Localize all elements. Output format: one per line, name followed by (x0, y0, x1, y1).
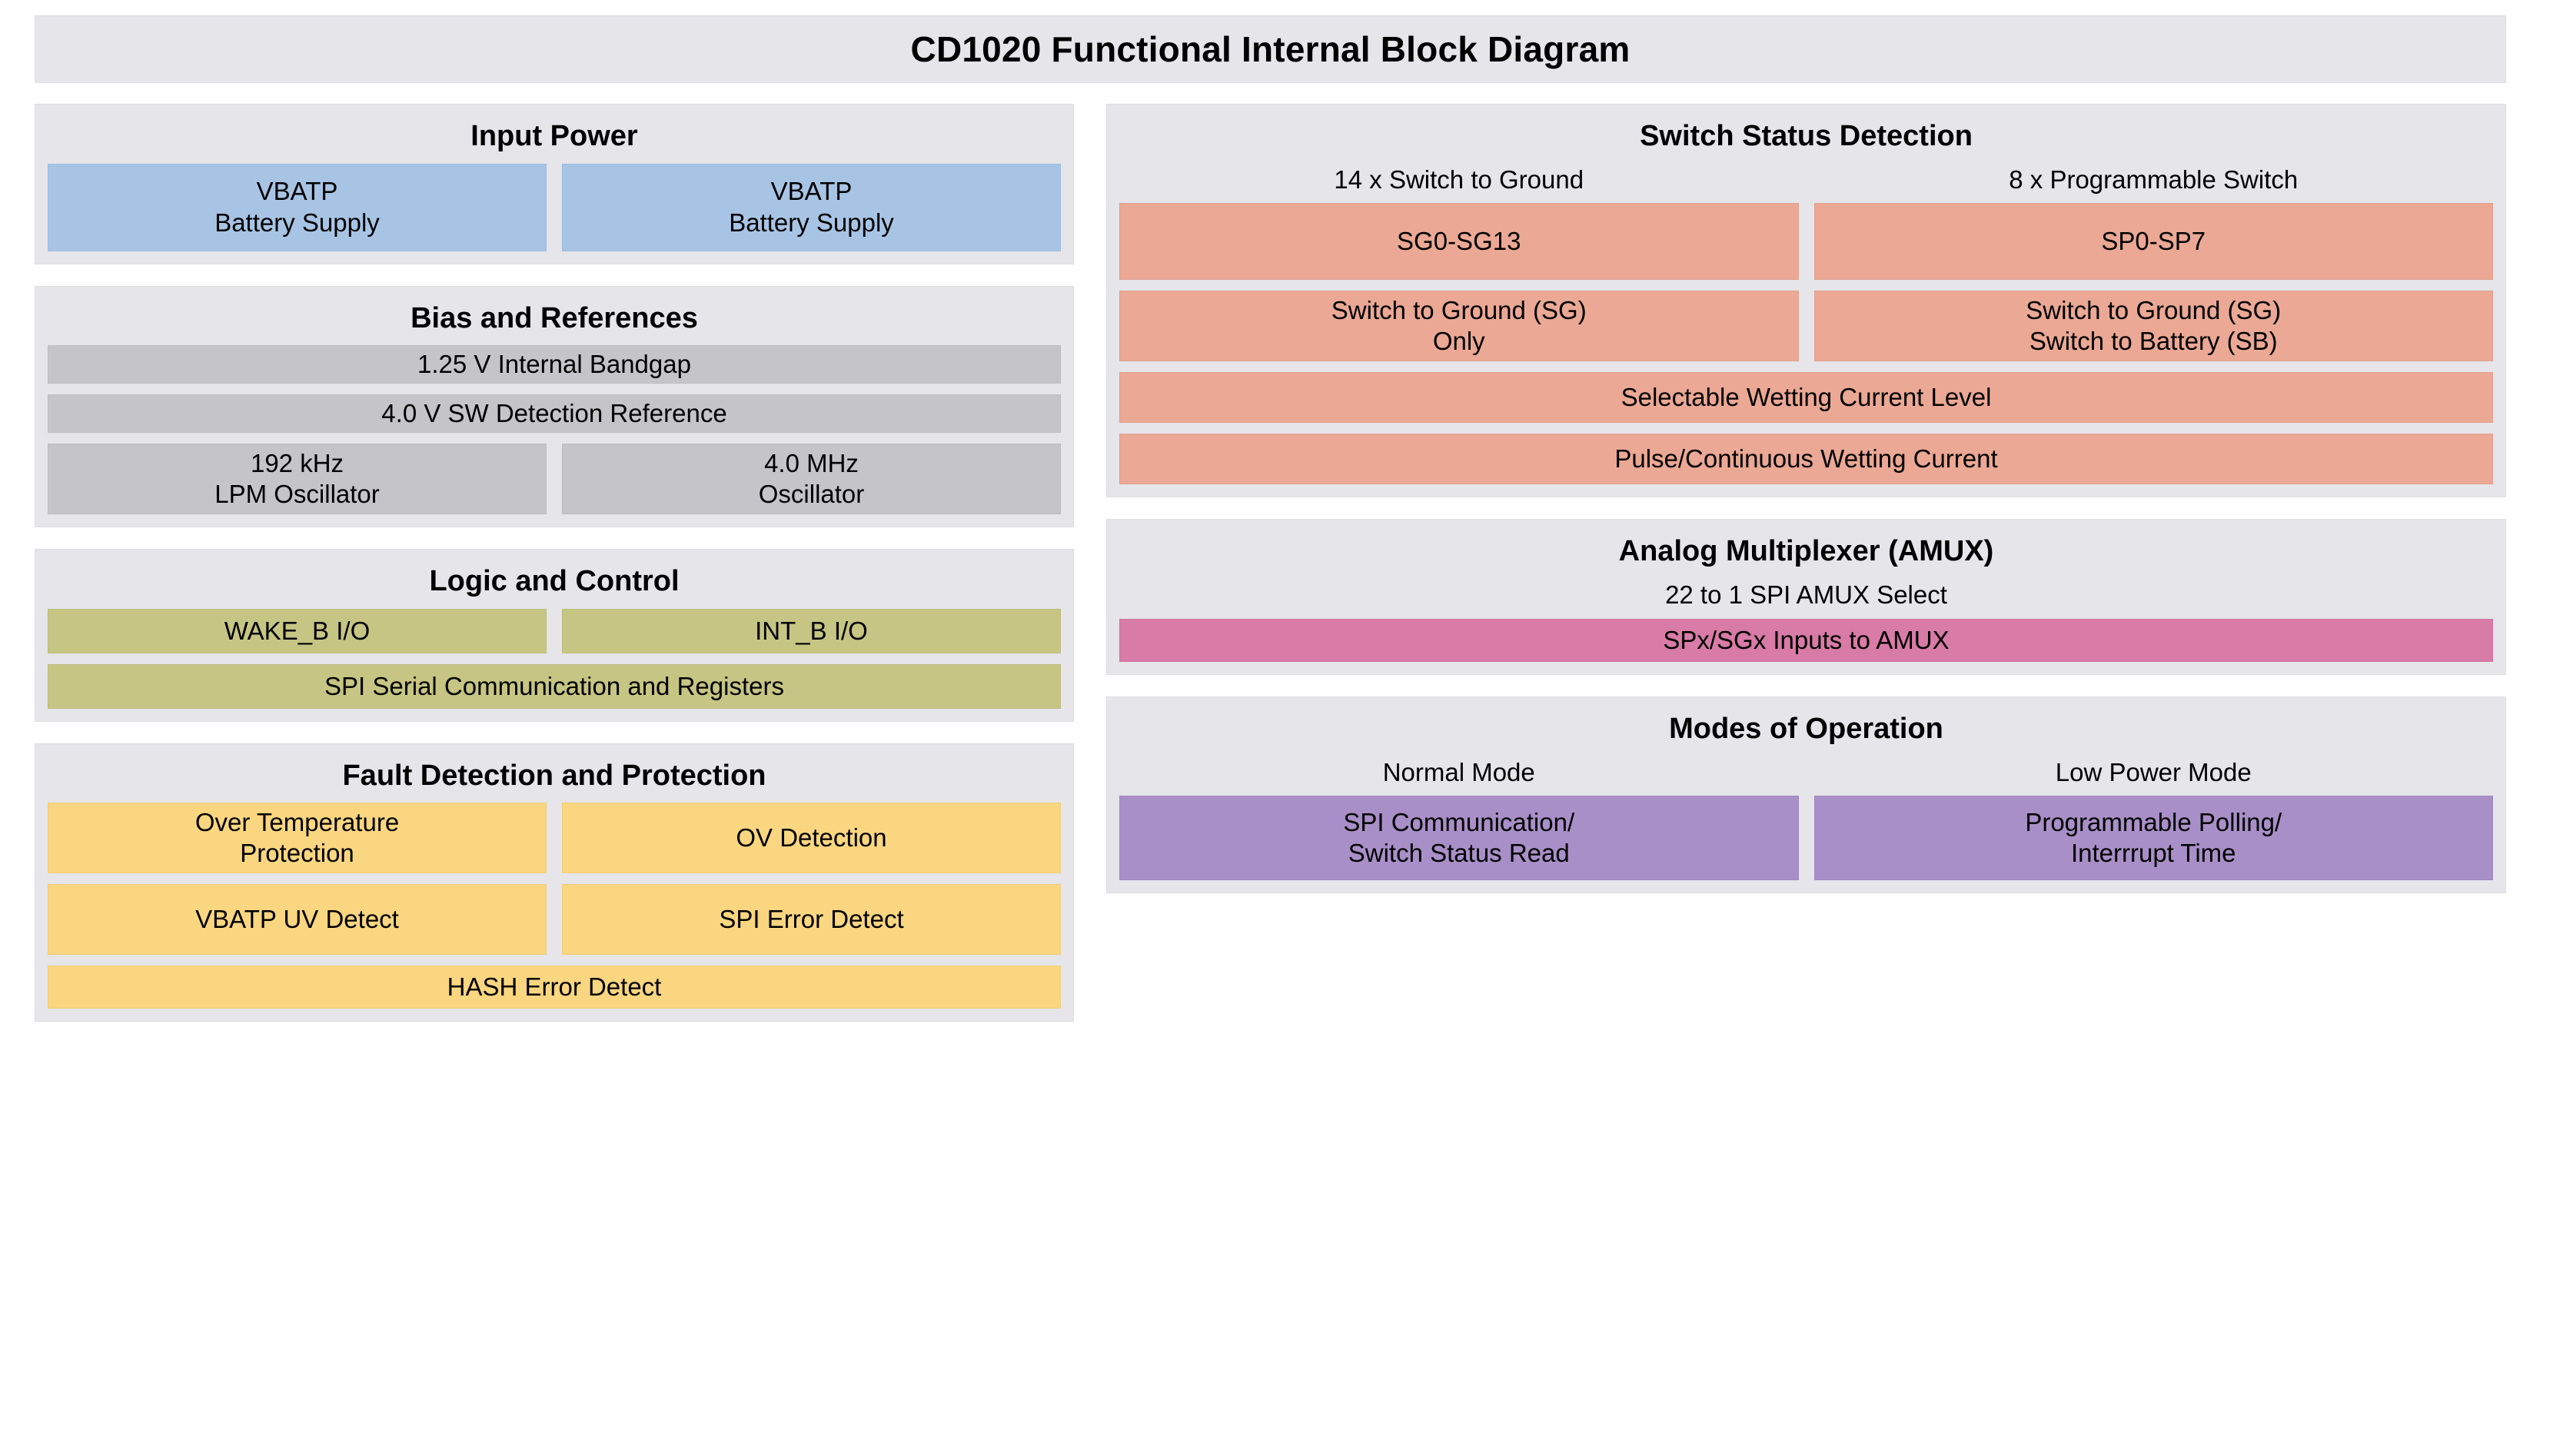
switch-range-row: SG0-SG13 SP0-SP7 (1119, 203, 2493, 280)
left-column: Input Power VBATP Battery Supply VBATP B… (35, 104, 1074, 1022)
block-switch-to-ground-only: Switch to Ground (SG) Only (1119, 291, 1799, 361)
block-wake-b-io: WAKE_B I/O (48, 609, 547, 653)
block-ov-detection: OV Detection (562, 803, 1061, 873)
wetting-level-row: Selectable Wetting Current Level (1119, 372, 2493, 423)
fault-row-3: HASH Error Detect (48, 966, 1061, 1009)
logic-io-row: WAKE_B I/O INT_B I/O (48, 609, 1061, 653)
section-input-power: Input Power VBATP Battery Supply VBATP B… (35, 104, 1074, 264)
sublabel-low-power-mode: Low Power Mode (1814, 756, 2494, 796)
section-modes-of-operation: Modes of Operation Normal Mode Low Power… (1106, 696, 2506, 893)
right-column: Switch Status Detection 14 x Switch to G… (1106, 104, 2506, 893)
block-spi-error-detect: SPI Error Detect (562, 884, 1061, 955)
wetting-mode-row: Pulse/Continuous Wetting Current (1119, 434, 2493, 484)
block-normal-mode-detail: SPI Communication/ Switch Status Read (1119, 796, 1799, 880)
fault-row-1: Over Temperature Protection OV Detection (48, 803, 1061, 873)
section-title-switch-status-detection: Switch Status Detection (1119, 115, 2493, 164)
block-spx-sgx-inputs-to-amux: SPx/SGx Inputs to AMUX (1119, 619, 2493, 662)
diagram-title: CD1020 Functional Internal Block Diagram (35, 15, 2506, 83)
block-diagram-canvas: CD1020 Functional Internal Block Diagram… (0, 0, 2563, 1456)
section-title-modes-of-operation: Modes of Operation (1119, 708, 2493, 756)
bias-bandgap-row: 1.25 V Internal Bandgap (48, 345, 1061, 384)
section-logic-and-control: Logic and Control WAKE_B I/O INT_B I/O S… (35, 549, 1074, 722)
block-vbatp-supply-2: VBATP Battery Supply (562, 164, 1061, 251)
bias-sw-reference-row: 4.0 V SW Detection Reference (48, 394, 1061, 433)
logic-spi-row: SPI Serial Communication and Registers (48, 664, 1061, 709)
block-vbatp-supply-1: VBATP Battery Supply (48, 164, 547, 251)
input-power-row: VBATP Battery Supply VBATP Battery Suppl… (48, 164, 1061, 251)
block-main-oscillator: 4.0 MHz Oscillator (562, 444, 1061, 514)
amux-block-row: SPx/SGx Inputs to AMUX (1119, 619, 2493, 662)
block-hash-error-detect: HASH Error Detect (48, 966, 1061, 1009)
section-title-logic-and-control: Logic and Control (48, 560, 1061, 609)
diagram-columns: Input Power VBATP Battery Supply VBATP B… (35, 104, 2506, 1022)
block-switch-to-ground-and-battery: Switch to Ground (SG) Switch to Battery … (1814, 291, 2494, 361)
section-title-bias-and-references: Bias and References (48, 298, 1061, 346)
switch-status-sublabel-row: 14 x Switch to Ground 8 x Programmable S… (1119, 164, 2493, 204)
block-int-b-io: INT_B I/O (562, 609, 1061, 653)
block-sg-range: SG0-SG13 (1119, 203, 1799, 280)
section-title-input-power: Input Power (48, 115, 1061, 164)
sublabel-normal-mode: Normal Mode (1119, 756, 1799, 796)
modes-sublabel-row: Normal Mode Low Power Mode (1119, 756, 2493, 796)
modes-block-row: SPI Communication/ Switch Status Read Pr… (1119, 796, 2493, 880)
normal-mode-group: Normal Mode (1119, 756, 1799, 796)
sublabel-programmable-switch: 8 x Programmable Switch (1814, 164, 2494, 204)
low-power-mode-group: Low Power Mode (1814, 756, 2494, 796)
block-over-temperature-protection: Over Temperature Protection (48, 803, 547, 873)
section-title-fault-detection: Fault Detection and Protection (48, 755, 1061, 803)
fault-row-2: VBATP UV Detect SPI Error Detect (48, 884, 1061, 955)
section-switch-status-detection: Switch Status Detection 14 x Switch to G… (1106, 104, 2506, 497)
bias-oscillator-row: 192 kHz LPM Oscillator 4.0 MHz Oscillato… (48, 444, 1061, 514)
section-analog-multiplexer: Analog Multiplexer (AMUX) 22 to 1 SPI AM… (1106, 519, 2506, 674)
section-fault-detection-and-protection: Fault Detection and Protection Over Temp… (35, 743, 1074, 1022)
block-internal-bandgap: 1.25 V Internal Bandgap (48, 345, 1061, 384)
block-pulse-continuous-wetting-current: Pulse/Continuous Wetting Current (1119, 434, 2493, 484)
switch-to-ground-group: 14 x Switch to Ground (1119, 164, 1799, 204)
block-low-power-mode-detail: Programmable Polling/ Interrrupt Time (1814, 796, 2494, 880)
block-selectable-wetting-current-level: Selectable Wetting Current Level (1119, 372, 2493, 423)
block-sp-range: SP0-SP7 (1814, 203, 2494, 280)
programmable-switch-group: 8 x Programmable Switch (1814, 164, 2494, 204)
block-spi-serial-communication: SPI Serial Communication and Registers (48, 664, 1061, 709)
block-lpm-oscillator: 192 kHz LPM Oscillator (48, 444, 547, 514)
section-title-analog-multiplexer: Analog Multiplexer (AMUX) (1119, 530, 2493, 579)
switch-type-row: Switch to Ground (SG) Only Switch to Gro… (1119, 291, 2493, 361)
sublabel-amux-select: 22 to 1 SPI AMUX Select (1119, 579, 2493, 619)
sublabel-switch-to-ground: 14 x Switch to Ground (1119, 164, 1799, 204)
block-vbatp-uv-detect: VBATP UV Detect (48, 884, 547, 955)
section-bias-and-references: Bias and References 1.25 V Internal Band… (35, 286, 1074, 528)
block-sw-detection-reference: 4.0 V SW Detection Reference (48, 394, 1061, 433)
